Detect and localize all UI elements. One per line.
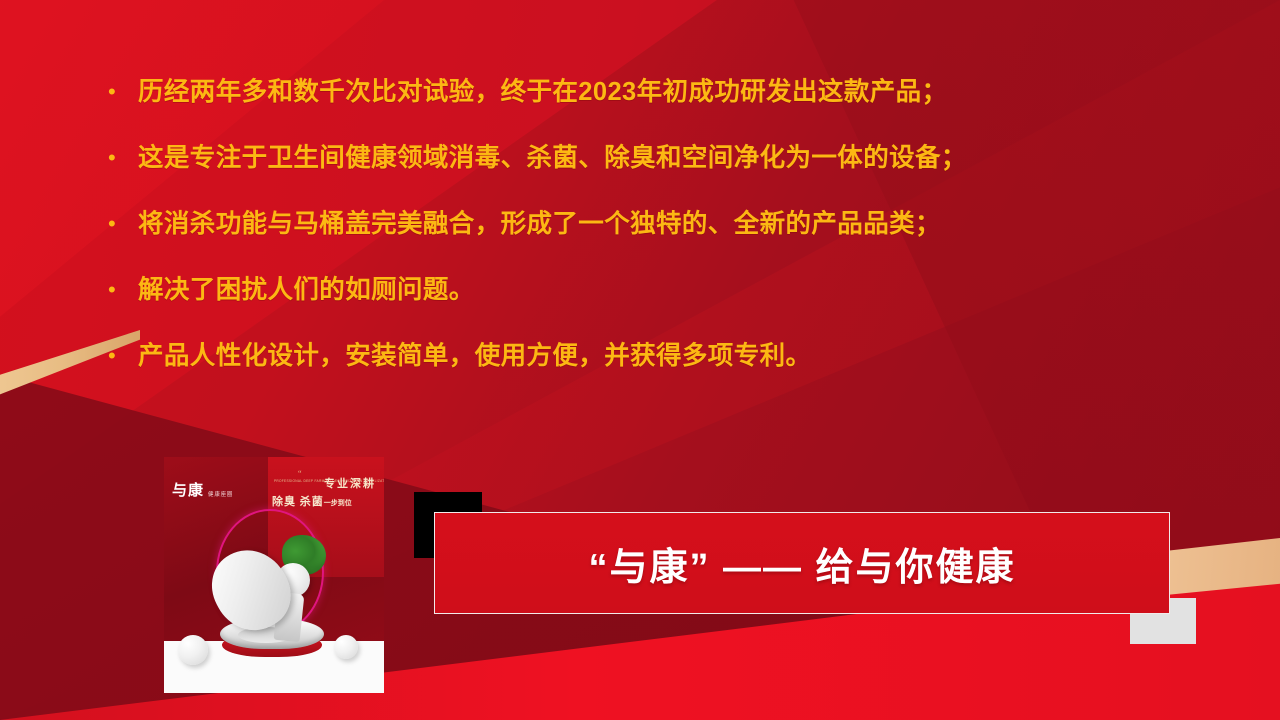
bullet-marker-icon: • [108, 138, 138, 178]
bullet-marker-icon: • [108, 336, 138, 376]
brand-name: 与康 [172, 479, 204, 500]
banner-headline: “与康” —— 给与你健康 [588, 536, 1015, 591]
decorative-sphere [178, 635, 208, 665]
bullet-text: 产品人性化设计，安装简单，使用方便，并获得多项专利。 [138, 336, 811, 376]
bullet-marker-icon: • [108, 270, 138, 310]
bullet-marker-icon: • [108, 72, 138, 112]
headline-banner: “与康” —— 给与你健康 [434, 512, 1170, 614]
bullet-text: 历经两年多和数千次比对试验，终于在2023年初成功研发出这款产品； [138, 72, 947, 112]
product-image: “ PROFESSIONAL DEEP FARMING DEODORIZATIO… [164, 457, 384, 693]
bullet-text: 这是专注于卫生间健康领域消毒、杀菌、除臭和空间净化为一体的设备； [138, 138, 967, 178]
poster-second-line-main: 除臭 杀菌 [272, 496, 324, 508]
bullet-text: 解决了困扰人们的如厕问题。 [138, 270, 475, 310]
poster-second-line-small: 一步到位 [324, 499, 352, 507]
poster-quote-mark: “ [298, 469, 302, 478]
product-brand-lockup: 与康 健康座圈 [172, 479, 233, 500]
decorative-sphere [334, 635, 358, 659]
slide-canvas: • 历经两年多和数千次比对试验，终于在2023年初成功研发出这款产品； • 这是… [0, 0, 1280, 720]
list-item: • 这是专注于卫生间健康领域消毒、杀菌、除臭和空间净化为一体的设备； [108, 138, 1188, 178]
poster-second-line: 除臭 杀菌一步到位 [272, 493, 352, 509]
bullet-text: 将消杀功能与马桶盖完美融合，形成了一个独特的、全新的产品品类； [138, 204, 941, 244]
list-item: • 解决了困扰人们的如厕问题。 [108, 270, 1188, 310]
bullet-marker-icon: • [108, 204, 138, 244]
list-item: • 将消杀功能与马桶盖完美融合，形成了一个独特的、全新的产品品类； [108, 204, 1188, 244]
list-item: • 产品人性化设计，安装简单，使用方便，并获得多项专利。 [108, 336, 1188, 376]
brand-tagline: 健康座圈 [208, 490, 233, 500]
bullet-list: • 历经两年多和数千次比对试验，终于在2023年初成功研发出这款产品； • 这是… [108, 72, 1188, 402]
poster-headline: 专业深耕 [324, 475, 376, 491]
list-item: • 历经两年多和数千次比对试验，终于在2023年初成功研发出这款产品； [108, 72, 1188, 112]
